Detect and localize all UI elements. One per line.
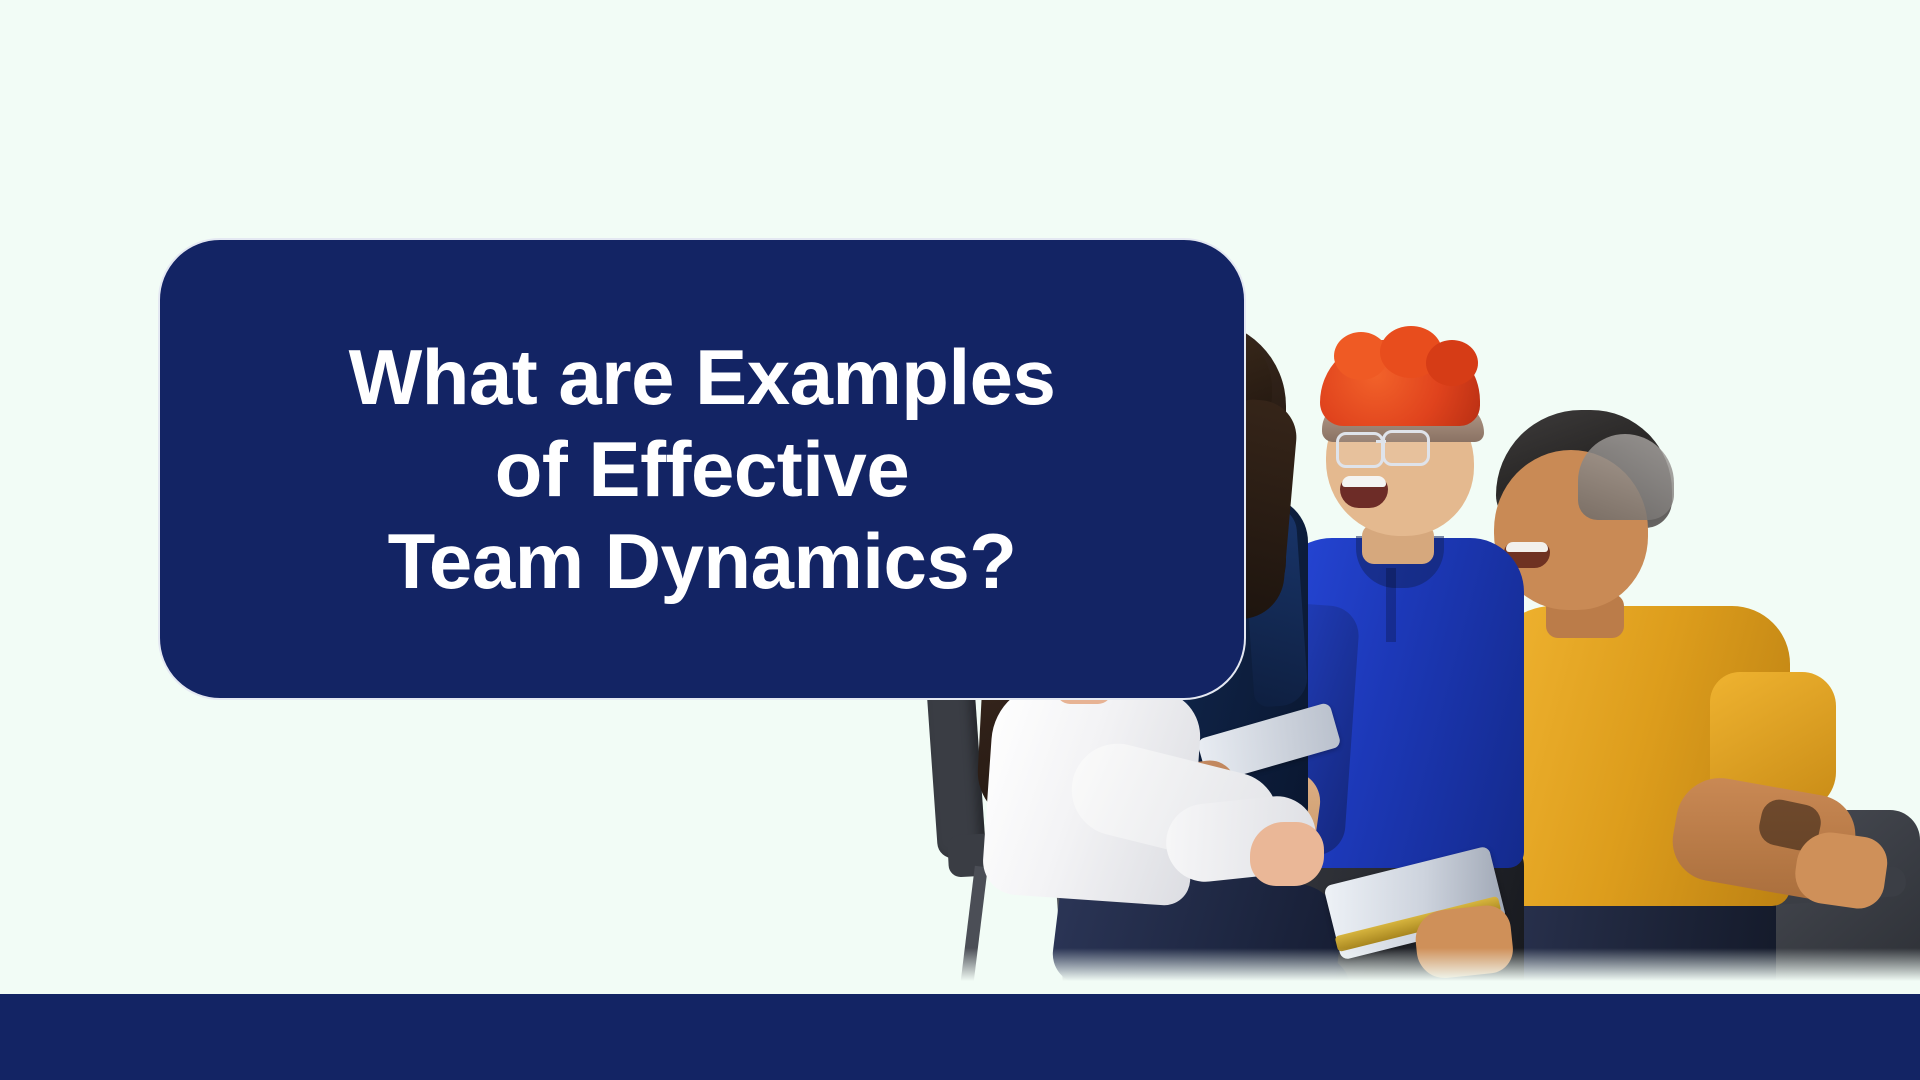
page-title: What are Examples of Effective Team Dyna…: [301, 331, 1104, 607]
hair-tuft: [1426, 340, 1478, 386]
title-card: What are Examples of Effective Team Dyna…: [158, 238, 1246, 700]
bottom-accent-band: [0, 994, 1920, 1080]
glasses-bridge: [1376, 440, 1386, 443]
clasped-hands: [1250, 822, 1324, 886]
photo-bottom-fade: [930, 948, 1920, 994]
glasses-lens-right: [1382, 430, 1430, 466]
shirt-placket: [1386, 568, 1396, 642]
slide-canvas: What are Examples of Effective Team Dyna…: [0, 0, 1920, 1080]
hair-grey-highlight: [1578, 434, 1674, 520]
